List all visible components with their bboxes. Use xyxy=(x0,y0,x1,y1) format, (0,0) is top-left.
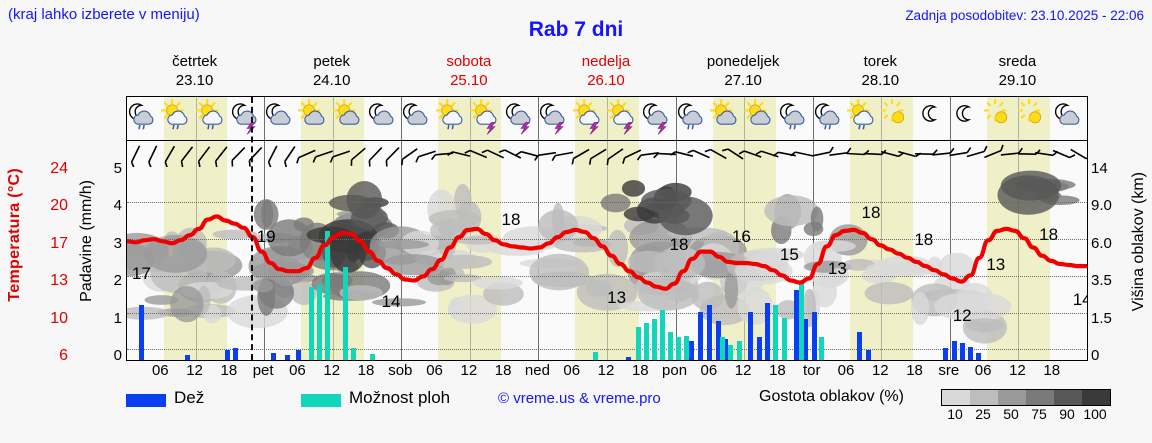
temp-label-5: 18 xyxy=(670,235,689,255)
weather-icon-sun xyxy=(881,97,915,141)
cloud-density-colorbar-ticks: 1025507590100 xyxy=(941,406,1121,424)
chart-legend: Dež Možnost ploh © vreme.us & vreme.pro … xyxy=(126,388,1146,433)
x-tick-06-16: 06 xyxy=(701,362,718,379)
precip-tick-1: 4 xyxy=(114,197,122,214)
day-date: 23.10 xyxy=(126,71,263,90)
weather-icon-moon-cloud-rain xyxy=(778,97,812,141)
x-tick-12-1: 12 xyxy=(186,362,203,379)
wind-barb-row xyxy=(127,141,1087,167)
day-header-strip: četrtek23.10petek24.10sobota25.10nedelja… xyxy=(126,52,1088,94)
day-name: sobota xyxy=(400,52,537,71)
weather-icon-moon-cloud-storm xyxy=(641,97,675,141)
temp-label-11: 18 xyxy=(914,230,933,250)
x-tick-sob-7: sob xyxy=(388,362,412,379)
precip-tick-3: 2 xyxy=(114,272,122,289)
cloud-tick-0: 14 xyxy=(1091,160,1108,177)
rain-legend-swatch xyxy=(126,394,166,407)
temp-label-8: 12 xyxy=(953,306,972,326)
weather-icon-row xyxy=(127,97,1087,141)
temp-label-14: 14 xyxy=(1073,290,1088,310)
weather-icon-moon-cloud-rain xyxy=(676,97,710,141)
weather-icon-sun-cloud-rain xyxy=(161,97,195,141)
x-tick-18-22: 18 xyxy=(906,362,923,379)
wind-barbs-svg xyxy=(127,141,1087,167)
temp-label-13: 18 xyxy=(1039,225,1058,245)
temp-label-0: 17 xyxy=(132,264,151,284)
weather-icon-moon-cloud xyxy=(401,97,435,141)
forecast-plot[interactable]: 171914181318151812161318131814 xyxy=(126,96,1088,361)
weather-icon-sun-cloud xyxy=(710,97,744,141)
x-tick-12-9: 12 xyxy=(461,362,478,379)
weather-icon-sun-cloud-rain xyxy=(436,97,470,141)
temperature-axis-title: Temperatura (°C) xyxy=(6,168,24,302)
temperature-axis-ticks: 24201713106 xyxy=(38,160,68,365)
cloud-density-tick-25: 25 xyxy=(975,406,991,422)
day-name: sreda xyxy=(949,52,1086,71)
day-name: torek xyxy=(812,52,949,71)
weather-icon-sun-cloud-storm xyxy=(607,97,641,141)
day-date: 29.10 xyxy=(949,71,1086,90)
weather-icon-moon-cloud-storm xyxy=(538,97,572,141)
x-tick-18-2: 18 xyxy=(221,362,238,379)
temperature-curve xyxy=(127,167,1087,361)
temp-tick-1: 20 xyxy=(50,197,68,215)
day-header-2: petek24.10 xyxy=(263,52,400,90)
x-tick-06-20: 06 xyxy=(838,362,855,379)
weather-icon-moon-cloud-storm xyxy=(504,97,538,141)
weather-icon-sun-cloud xyxy=(298,97,332,141)
temp-label-4: 13 xyxy=(607,288,626,308)
weather-icon-sun-cloud xyxy=(333,97,367,141)
temp-label-9: 16 xyxy=(732,227,751,247)
cloud-density-step-5 xyxy=(1082,390,1110,405)
cloud-density-tick-100: 100 xyxy=(1083,406,1106,422)
x-tick-sre-23: sre xyxy=(938,362,959,379)
x-axis-tick-labels: 061218pet061218sob061218ned061218pon0612… xyxy=(126,362,1088,382)
showers-legend-label: Možnost ploh xyxy=(349,388,450,408)
weather-icon-moon xyxy=(950,97,984,141)
x-tick-18-18: 18 xyxy=(769,362,786,379)
copyright-link[interactable]: © vreme.us & vreme.pro xyxy=(498,390,661,407)
temp-label-3: 18 xyxy=(502,210,521,230)
day-header-3: sobota25.10 xyxy=(400,52,537,90)
weather-icon-sun-cloud-storm xyxy=(573,97,607,141)
day-date: 26.10 xyxy=(537,71,674,90)
current-time-marker xyxy=(251,97,253,360)
precipitation-axis-ticks: 543210 xyxy=(104,160,122,365)
day-header-4: nedelja26.10 xyxy=(537,52,674,90)
weather-icon-sun-cloud xyxy=(744,97,778,141)
x-tick-06-24: 06 xyxy=(975,362,992,379)
cloud-tick-5: 0 xyxy=(1091,347,1099,364)
day-header-1: četrtek23.10 xyxy=(126,52,263,90)
day-header-6: torek28.10 xyxy=(812,52,949,90)
day-date: 28.10 xyxy=(812,71,949,90)
weather-icon-sun-cloud-storm xyxy=(470,97,504,141)
cloud-height-axis-title: Višina oblakov (km) xyxy=(1130,172,1148,311)
cloud-density-tick-10: 10 xyxy=(947,406,963,422)
x-tick-06-0: 06 xyxy=(152,362,169,379)
weather-icon-sun-cloud-rain xyxy=(847,97,881,141)
weather-icon-sun xyxy=(1018,97,1052,141)
cloud-density-colorbar xyxy=(941,389,1111,406)
weather-icon-moon-cloud xyxy=(1053,97,1087,141)
weather-forecast-page: (kraj lahko izberete v meniju) Rab 7 dni… xyxy=(0,0,1152,443)
cloud-density-legend-label: Gostota oblakov (%) xyxy=(759,388,904,406)
temp-tick-4: 10 xyxy=(50,310,68,328)
x-tick-ned-11: ned xyxy=(525,362,550,379)
cloud-density-step-4 xyxy=(1054,390,1082,405)
data-field: 171914181318151812161318131814 xyxy=(127,167,1087,361)
x-tick-12-13: 12 xyxy=(598,362,615,379)
x-tick-06-4: 06 xyxy=(289,362,306,379)
x-tick-12-17: 12 xyxy=(735,362,752,379)
cloud-tick-2: 6.0 xyxy=(1091,235,1112,252)
day-header-5: ponedeljek27.10 xyxy=(675,52,812,90)
temp-label-2: 14 xyxy=(382,292,401,312)
weather-icon-moon-cloud xyxy=(367,97,401,141)
x-tick-pon-15: pon xyxy=(662,362,687,379)
cloud-density-tick-75: 75 xyxy=(1031,406,1047,422)
x-tick-12-5: 12 xyxy=(323,362,340,379)
weather-icon-moon-cloud-rain xyxy=(813,97,847,141)
day-name: četrtek xyxy=(126,52,263,71)
cloud-tick-1: 9.0 xyxy=(1091,197,1112,214)
x-tick-pet-3: pet xyxy=(253,362,274,379)
x-tick-18-26: 18 xyxy=(1043,362,1060,379)
day-name: petek xyxy=(263,52,400,71)
cloud-tick-3: 3.5 xyxy=(1091,272,1112,289)
temp-label-1: 19 xyxy=(257,227,276,247)
temp-tick-3: 13 xyxy=(50,272,68,290)
weather-icon-moon-cloud xyxy=(264,97,298,141)
precip-tick-0: 5 xyxy=(114,160,122,177)
cloud-density-step-3 xyxy=(1026,390,1054,405)
temp-tick-2: 17 xyxy=(50,235,68,253)
cloud-density-step-0 xyxy=(942,390,970,405)
day-date: 27.10 xyxy=(675,71,812,90)
day-header-7: sreda29.10 xyxy=(949,52,1086,90)
temp-tick-0: 24 xyxy=(50,160,68,178)
temp-label-7: 18 xyxy=(862,203,881,223)
weather-icon-moon-cloud-storm xyxy=(230,97,264,141)
precip-tick-4: 1 xyxy=(114,310,122,327)
weather-icon-moon xyxy=(916,97,950,141)
cloud-height-axis-ticks: 149.06.03.51.50 xyxy=(1091,160,1125,365)
precip-tick-2: 3 xyxy=(114,235,122,252)
weather-icon-sun xyxy=(984,97,1018,141)
x-tick-12-25: 12 xyxy=(1009,362,1026,379)
cloud-density-tick-50: 50 xyxy=(1003,406,1019,422)
x-tick-18-14: 18 xyxy=(632,362,649,379)
precip-tick-5: 0 xyxy=(114,347,122,364)
showers-legend-swatch xyxy=(301,394,341,407)
cloud-density-tick-90: 90 xyxy=(1059,406,1075,422)
weather-icon-sun-cloud-rain xyxy=(196,97,230,141)
temp-label-12: 13 xyxy=(986,255,1005,275)
temp-tick-5: 6 xyxy=(59,347,68,365)
precipitation-axis-title: Padavine (mm/h) xyxy=(78,180,96,302)
rain-legend-label: Dež xyxy=(174,388,204,408)
x-tick-18-10: 18 xyxy=(495,362,512,379)
day-name: ponedeljek xyxy=(675,52,812,71)
day-name: nedelja xyxy=(537,52,674,71)
temp-label-10: 13 xyxy=(828,259,847,279)
day-date: 25.10 xyxy=(400,71,537,90)
cloud-density-step-1 xyxy=(970,390,998,405)
day-date: 24.10 xyxy=(263,71,400,90)
x-tick-06-12: 06 xyxy=(563,362,580,379)
x-tick-18-6: 18 xyxy=(358,362,375,379)
x-tick-tor-19: tor xyxy=(803,362,821,379)
cloud-density-step-2 xyxy=(998,390,1026,405)
cloud-tick-4: 1.5 xyxy=(1091,310,1112,327)
x-tick-12-21: 12 xyxy=(872,362,889,379)
last-updated: Zadnja posodobitev: 23.10.2025 - 22:06 xyxy=(905,8,1144,23)
weather-icon-moon-cloud-rain xyxy=(127,97,161,141)
temp-label-6: 15 xyxy=(780,245,799,265)
x-tick-06-8: 06 xyxy=(426,362,443,379)
